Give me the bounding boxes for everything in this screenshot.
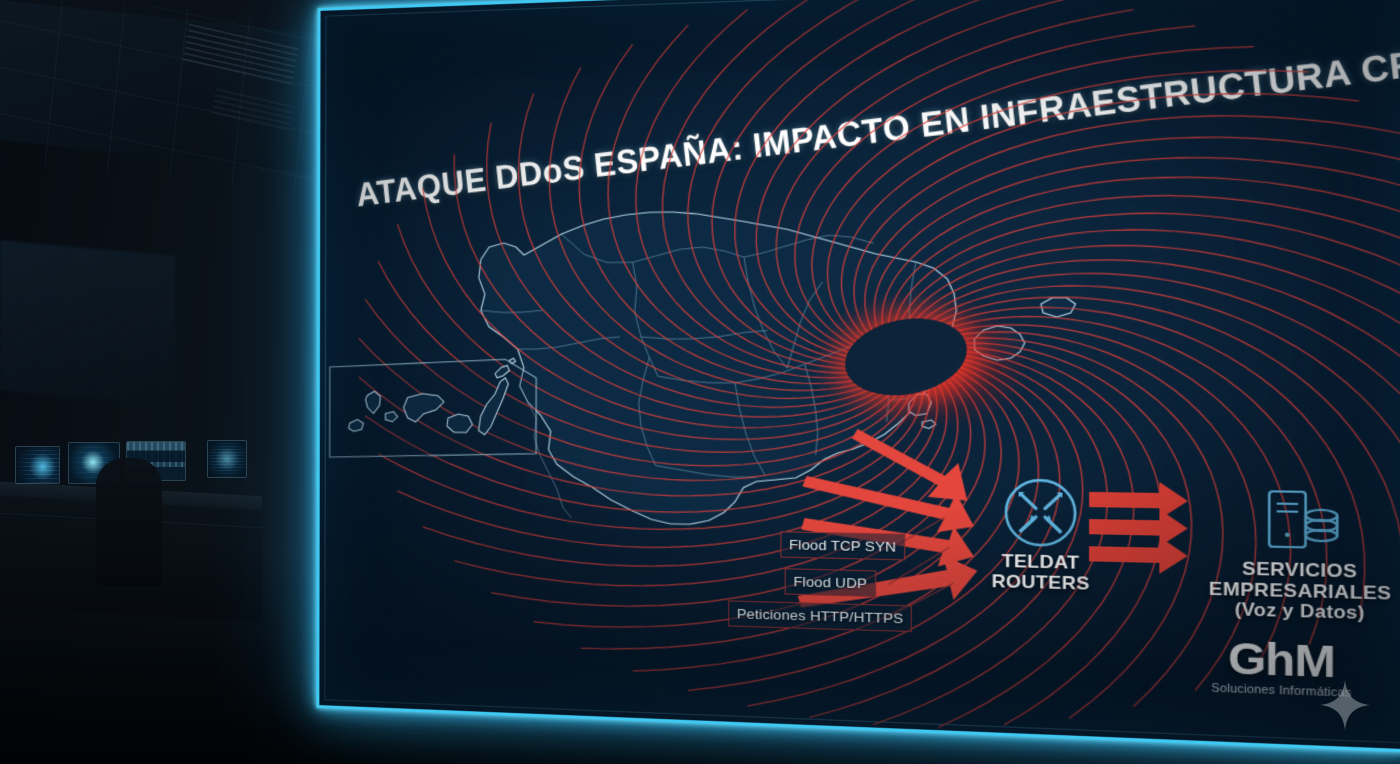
workstation-monitor-4 <box>207 440 247 478</box>
router-icon <box>960 473 1121 554</box>
monitor-stand <box>219 477 235 478</box>
node-label-line2: ROUTERS <box>960 570 1121 595</box>
canary-islands-inset <box>328 351 539 464</box>
chip-label: Peticiones HTTP/HTTPS <box>737 606 904 627</box>
sparkle-icon <box>1318 678 1372 732</box>
chip-label: Flood UDP <box>793 574 867 592</box>
server-database-icon <box>1162 478 1400 563</box>
monitor-screen-content <box>16 447 59 483</box>
chip-label: Flood TCP SYN <box>789 537 896 555</box>
node-teldat-routers[interactable]: TELDAT ROUTERS <box>960 473 1121 595</box>
screenshot-stage: ATAQUE DDoS ESPAÑA: IMPACTO EN INFRAESTR… <box>0 0 1400 764</box>
attack-vector-chip-tcp-syn[interactable]: Flood TCP SYN <box>780 531 905 560</box>
room-wall-panel <box>0 240 175 405</box>
monitor-stand <box>30 483 46 484</box>
workstation-monitor-1 <box>15 446 60 484</box>
display-face: ATAQUE DDoS ESPAÑA: IMPACTO EN INFRAESTR… <box>316 0 1400 753</box>
wall-display-wrapper: ATAQUE DDoS ESPAÑA: IMPACTO EN INFRAESTR… <box>317 8 1307 708</box>
wall-display: ATAQUE DDoS ESPAÑA: IMPACTO EN INFRAESTR… <box>316 0 1400 753</box>
attack-vector-chip-udp[interactable]: Flood UDP <box>785 568 876 597</box>
node-business-services[interactable]: SERVICIOS EMPRESARIALES (Voz y Datos) <box>1162 478 1400 627</box>
monitor-screen-content <box>208 441 246 477</box>
attack-vector-chip-http[interactable]: Peticiones HTTP/HTTPS <box>728 600 912 632</box>
